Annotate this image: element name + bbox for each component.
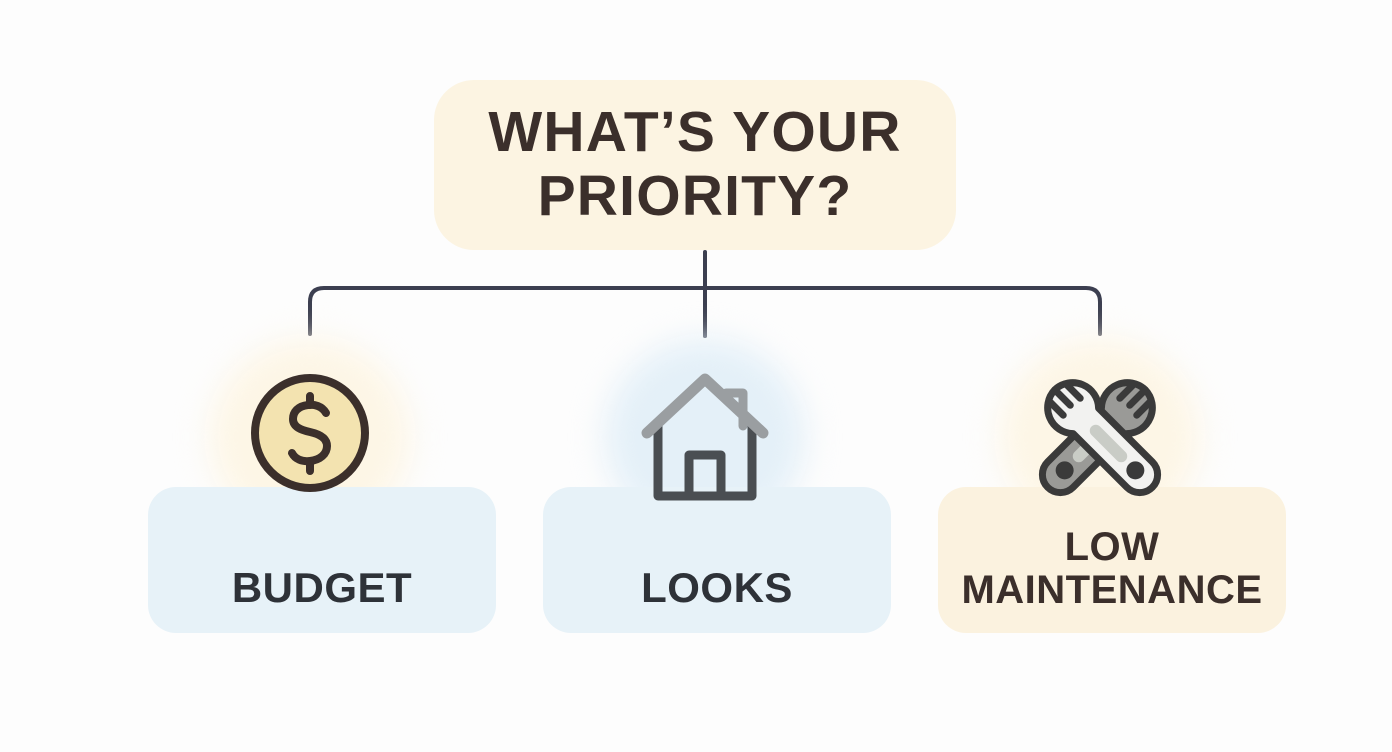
branch-looks[interactable]: LOOKS	[525, 333, 885, 643]
connector-bus	[310, 288, 1100, 334]
title-line-1: WHAT’S YOUR	[488, 101, 901, 165]
house-icon	[625, 363, 785, 509]
title-card: WHAT’S YOUR PRIORITY?	[434, 80, 956, 250]
dollar-coin-icon	[230, 363, 390, 509]
branch-label-looks: LOOKS	[641, 566, 793, 611]
branch-label-low-maintenance: LOW MAINTENANCE	[961, 526, 1262, 611]
title-line-2: PRIORITY?	[538, 165, 853, 229]
crossed-wrenches-icon	[1020, 363, 1180, 509]
branch-label-budget: BUDGET	[232, 566, 412, 611]
branch-budget[interactable]: BUDGET	[130, 333, 490, 643]
branch-low-maintenance[interactable]: LOW MAINTENANCE	[920, 333, 1280, 643]
diagram-canvas: WHAT’S YOUR PRIORITY? BUDGET LOOKS	[0, 0, 1392, 752]
